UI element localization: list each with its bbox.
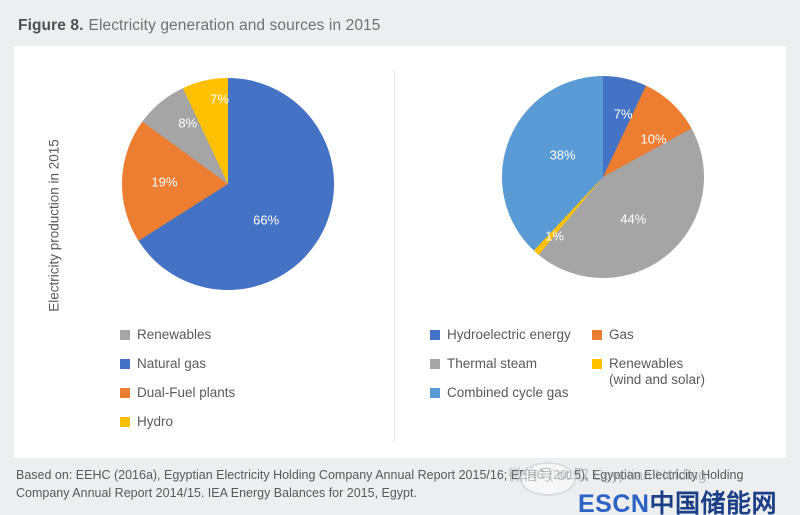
right-pie-slice-label: 38%	[550, 147, 576, 162]
legend-item-label: Hydro	[137, 414, 173, 430]
panel-divider	[394, 70, 395, 442]
right-pie-legend-column-2: GasRenewables (wind and solar)	[592, 327, 705, 401]
legend-item[interactable]: Hydroelectric energy	[430, 327, 571, 343]
legend-item-label: Combined cycle gas	[447, 385, 569, 401]
legend-swatch-icon	[430, 359, 440, 369]
legend-swatch-icon	[592, 330, 602, 340]
left-pie-slice-label: 19%	[151, 174, 177, 189]
figure-title: Figure 8. Electricity generation and sou…	[0, 8, 800, 44]
chart-panel: Electricity production in 2015 66%19%8%7…	[14, 46, 786, 458]
figure-caption: Based on: EEHC (2016a), Egyptian Electri…	[16, 466, 786, 502]
legend-swatch-icon	[430, 388, 440, 398]
legend-item[interactable]: Gas	[592, 327, 705, 343]
left-pie-slice-label: 8%	[178, 115, 197, 130]
figure-title-text: Electricity generation and sources in 20…	[89, 17, 381, 35]
left-pie-legend: RenewablesNatural gasDual-Fuel plantsHyd…	[120, 327, 235, 443]
legend-item[interactable]: Renewables	[120, 327, 235, 343]
legend-swatch-icon	[120, 330, 130, 340]
legend-item-label: Natural gas	[137, 356, 206, 372]
legend-item[interactable]: Dual-Fuel plants	[120, 385, 235, 401]
legend-item-label: Renewables (wind and solar)	[609, 356, 705, 388]
legend-swatch-icon	[120, 417, 130, 427]
right-pie-legend-column-1: Hydroelectric energyThermal steamCombine…	[430, 327, 571, 414]
right-pie-circle: 7%10%44%1%38%	[502, 76, 704, 278]
legend-item-label: Hydroelectric energy	[447, 327, 571, 343]
right-pie-slice-label: 7%	[614, 107, 633, 122]
figure-container: Figure 8. Electricity generation and sou…	[0, 0, 800, 515]
legend-item[interactable]: Combined cycle gas	[430, 385, 571, 401]
left-pie-slice-label: 66%	[253, 213, 279, 228]
legend-item-label: Dual-Fuel plants	[137, 385, 235, 401]
legend-item-label: Thermal steam	[447, 356, 537, 372]
legend-swatch-icon	[592, 359, 602, 369]
legend-item[interactable]: Hydro	[120, 414, 235, 430]
legend-swatch-icon	[430, 330, 440, 340]
left-pie-chart: 66%19%8%7%	[122, 78, 334, 290]
legend-item[interactable]: Renewables (wind and solar)	[592, 356, 705, 388]
figure-number: Figure 8.	[18, 17, 84, 35]
caption-line-1: Based on: EEHC (2016a), Egyptian Electri…	[16, 466, 786, 484]
right-pie-slice-label: 10%	[640, 131, 666, 146]
legend-swatch-icon	[120, 359, 130, 369]
y-axis-label: Electricity production in 2015	[47, 86, 62, 366]
legend-item[interactable]: Thermal steam	[430, 356, 571, 372]
legend-item[interactable]: Natural gas	[120, 356, 235, 372]
legend-swatch-icon	[120, 388, 130, 398]
caption-line-2: Company Annual Report 2014/15. IEA Energ…	[16, 484, 786, 502]
right-pie-slice-label: 44%	[620, 212, 646, 227]
left-pie-slice-label: 7%	[210, 92, 229, 107]
legend-item-label: Renewables	[137, 327, 211, 343]
right-pie-chart: 7%10%44%1%38%	[502, 76, 704, 278]
right-pie-slice-label: 1%	[545, 228, 564, 243]
legend-item-label: Gas	[609, 327, 634, 343]
left-pie-circle: 66%19%8%7%	[122, 78, 334, 290]
